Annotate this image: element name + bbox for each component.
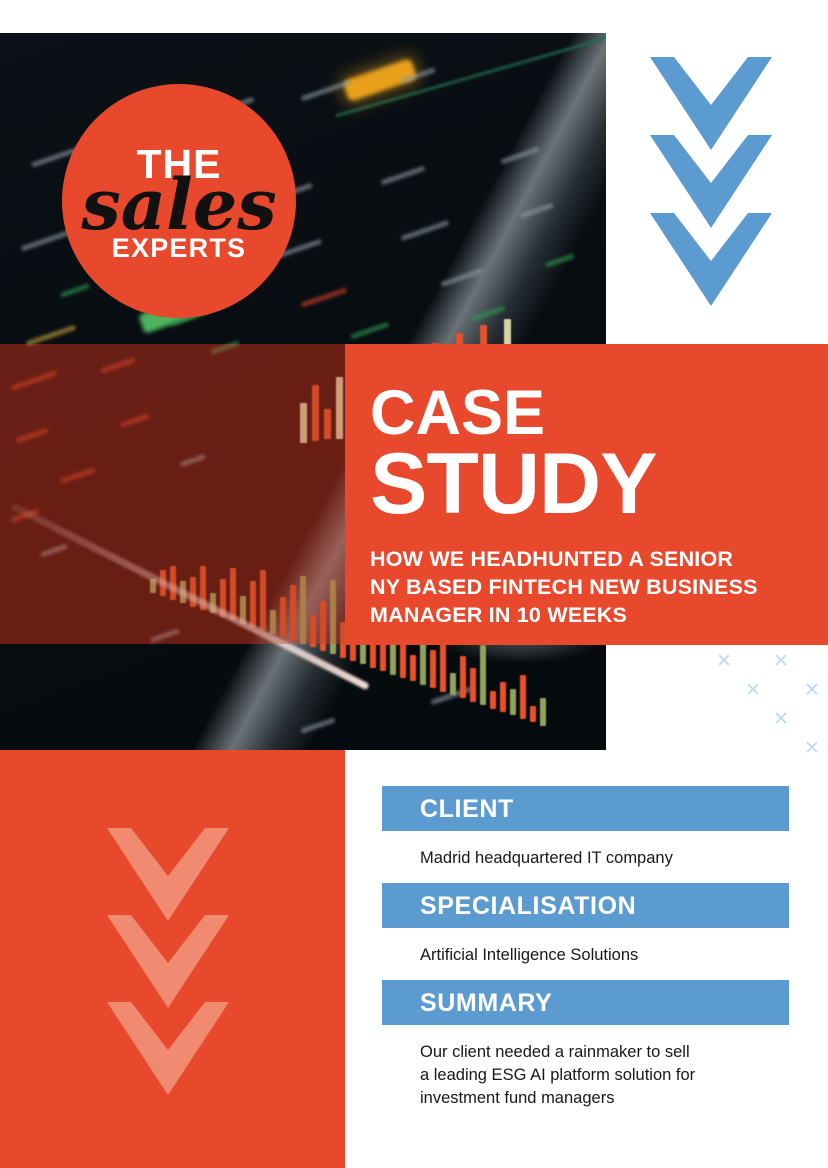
chevron-down-icon (107, 828, 229, 921)
x-mark-icon: ✕ (745, 681, 761, 700)
title-block: CASE STUDY HOW WE HEADHUNTED A SENIOR NY… (345, 344, 828, 645)
info-group-client: CLIENT Madrid headquartered IT company (382, 786, 789, 883)
title-study: STUDY (370, 445, 828, 524)
title-subtitle-line-1: HOW WE HEADHUNTED A SENIOR (370, 546, 828, 574)
title-subtitle-line-2: NY BASED FINTECH NEW BUSINESS (370, 574, 828, 602)
x-mark-icon: ✕ (804, 681, 820, 700)
info-body-summary: Our client needed a rainmaker to sell a … (382, 1025, 789, 1123)
info-heading-client: CLIENT (382, 786, 789, 831)
info-heading-specialisation: SPECIALISATION (382, 883, 789, 928)
info-body-client: Madrid headquartered IT company (382, 831, 789, 883)
chevron-down-icon (650, 213, 772, 306)
title-case: CASE (370, 385, 828, 443)
x-mark-icon: ✕ (773, 710, 789, 729)
info-body-specialisation: Artificial Intelligence Solutions (382, 928, 789, 980)
info-section: CLIENT Madrid headquartered IT company S… (382, 786, 789, 1123)
title-subtitle: HOW WE HEADHUNTED A SENIOR NY BASED FINT… (370, 546, 828, 630)
info-heading-summary: SUMMARY (382, 980, 789, 1025)
logo-text-experts: EXPERTS (112, 235, 246, 262)
chevron-down-icon (107, 915, 229, 1008)
x-mark-icon: ✕ (804, 739, 820, 758)
logo-badge: THE sales EXPERTS (62, 84, 296, 318)
case-study-page: THE sales EXPERTS CASE STUDY HOW WE HEAD… (0, 0, 828, 1168)
info-group-specialisation: SPECIALISATION Artificial Intelligence S… (382, 883, 789, 980)
chevron-down-icon (107, 1002, 229, 1095)
x-mark-icon: ✕ (773, 652, 789, 671)
info-group-summary: SUMMARY Our client needed a rainmaker to… (382, 980, 789, 1123)
x-mark-icon: ✕ (716, 652, 732, 671)
logo-text-sales: sales (81, 178, 276, 233)
title-subtitle-line-3: MANAGER IN 10 WEEKS (370, 602, 828, 630)
